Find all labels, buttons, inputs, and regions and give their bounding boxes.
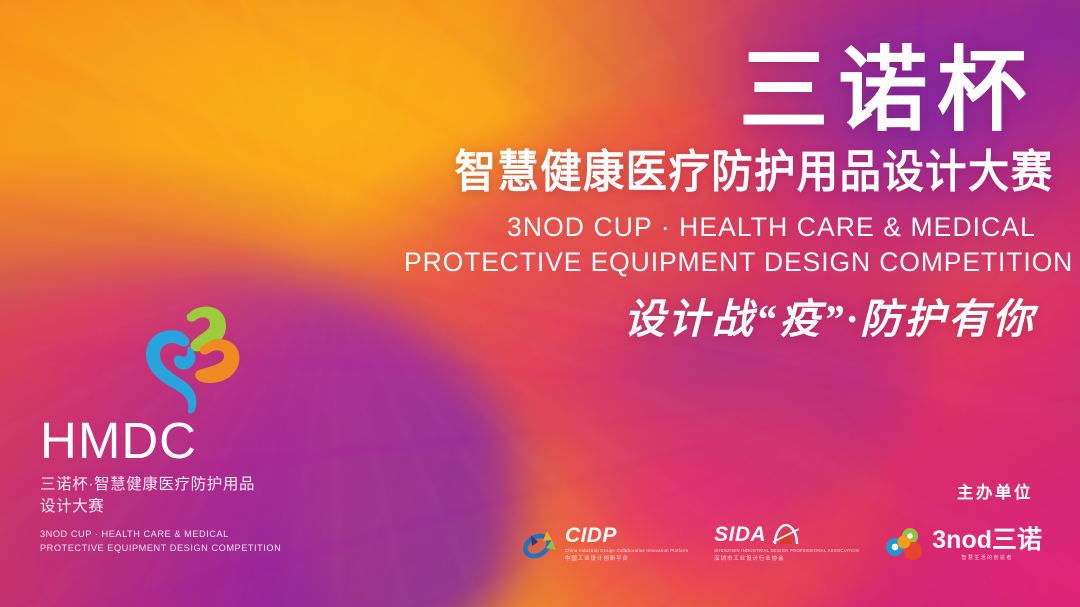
poster-title-subtitle: 智慧健康医疗防护用品设计大赛 — [455, 149, 1036, 196]
sponsor-logo-3nod[interactable]: 3nod三诺 智慧生活的创造者 — [885, 527, 1042, 563]
hmdc-wordmark: HMDC — [40, 418, 280, 465]
hmdc-heart-ribbon-icon — [138, 302, 242, 414]
poster-slogan: 设计战“疫”·防护有你 — [404, 297, 1036, 342]
cidp-mark-icon — [522, 526, 558, 562]
3nod-text-block: 3nod三诺 智慧生活的创造者 — [932, 528, 1042, 563]
sponsor-logo-row: CIDP China Industrial Design Collaborati… — [522, 524, 1042, 563]
cidp-text-block: CIDP China Industrial Design Collaborati… — [565, 525, 688, 563]
3nod-name: 3nod三诺 — [932, 528, 1042, 553]
poster-title-main: 三诺杯 — [423, 46, 1036, 137]
hmdc-english-line2: PROTECTIVE EQUIPMENT DESIGN COMPETITION — [40, 541, 280, 555]
sponsor-logo-sida[interactable]: SIDA SHENZHEN INDUSTRIAL DESIGN PROFESSI… — [714, 524, 859, 563]
poster-title-english-line2: PROTECTIVE EQUIPMENT DESIGN COMPETITION — [404, 245, 1036, 280]
hmdc-chinese-line1: 三诺杯·智慧健康医疗防护用品 — [40, 474, 280, 496]
headline-block: 三诺杯 智慧健康医疗防护用品设计大赛 3NOD CUP · HEALTH CAR… — [404, 46, 1036, 342]
3nod-chinese-sub: 智慧生活的创造者 — [932, 555, 1042, 563]
hmdc-chinese-name: 三诺杯·智慧健康医疗防护用品 设计大赛 — [40, 474, 280, 518]
hmdc-english-name: 3NOD CUP · HEALTH CARE & MEDICAL PROTECT… — [40, 527, 280, 556]
organizer-label: 主办单位 — [957, 479, 1033, 503]
sida-chinese-sub: 深圳市工业设计行业协会 — [714, 555, 859, 563]
sida-name-row: SIDA — [714, 524, 859, 546]
poster-title-english-line1: 3NOD CUP · HEALTH CARE & MEDICAL — [404, 210, 1036, 245]
cidp-english-sub: China Industrial Design Collaborative In… — [565, 548, 688, 554]
sida-name: SIDA — [714, 524, 766, 545]
cidp-name: CIDP — [565, 525, 688, 546]
hmdc-english-line1: 3NOD CUP · HEALTH CARE & MEDICAL — [40, 527, 280, 541]
3nod-mark-icon — [885, 527, 925, 563]
poster-title-english: 3NOD CUP · HEALTH CARE & MEDICAL PROTECT… — [404, 210, 1036, 280]
cidp-chinese-sub: 中国工业设计创新平台 — [565, 555, 688, 563]
sponsor-logo-cidp[interactable]: CIDP China Industrial Design Collaborati… — [522, 525, 688, 563]
sida-text-block: SIDA SHENZHEN INDUSTRIAL DESIGN PROFESSI… — [714, 524, 859, 563]
sida-mark-icon — [771, 524, 801, 546]
hmdc-logo: HMDC 三诺杯·智慧健康医疗防护用品 设计大赛 3NOD CUP · HEAL… — [40, 418, 280, 555]
sida-english-sub: SHENZHEN INDUSTRIAL DESIGN PROFESSIONAL … — [714, 548, 859, 554]
hmdc-chinese-line2: 设计大赛 — [40, 496, 280, 518]
competition-poster: 三诺杯 智慧健康医疗防护用品设计大赛 3NOD CUP · HEALTH CAR… — [0, 0, 1080, 607]
